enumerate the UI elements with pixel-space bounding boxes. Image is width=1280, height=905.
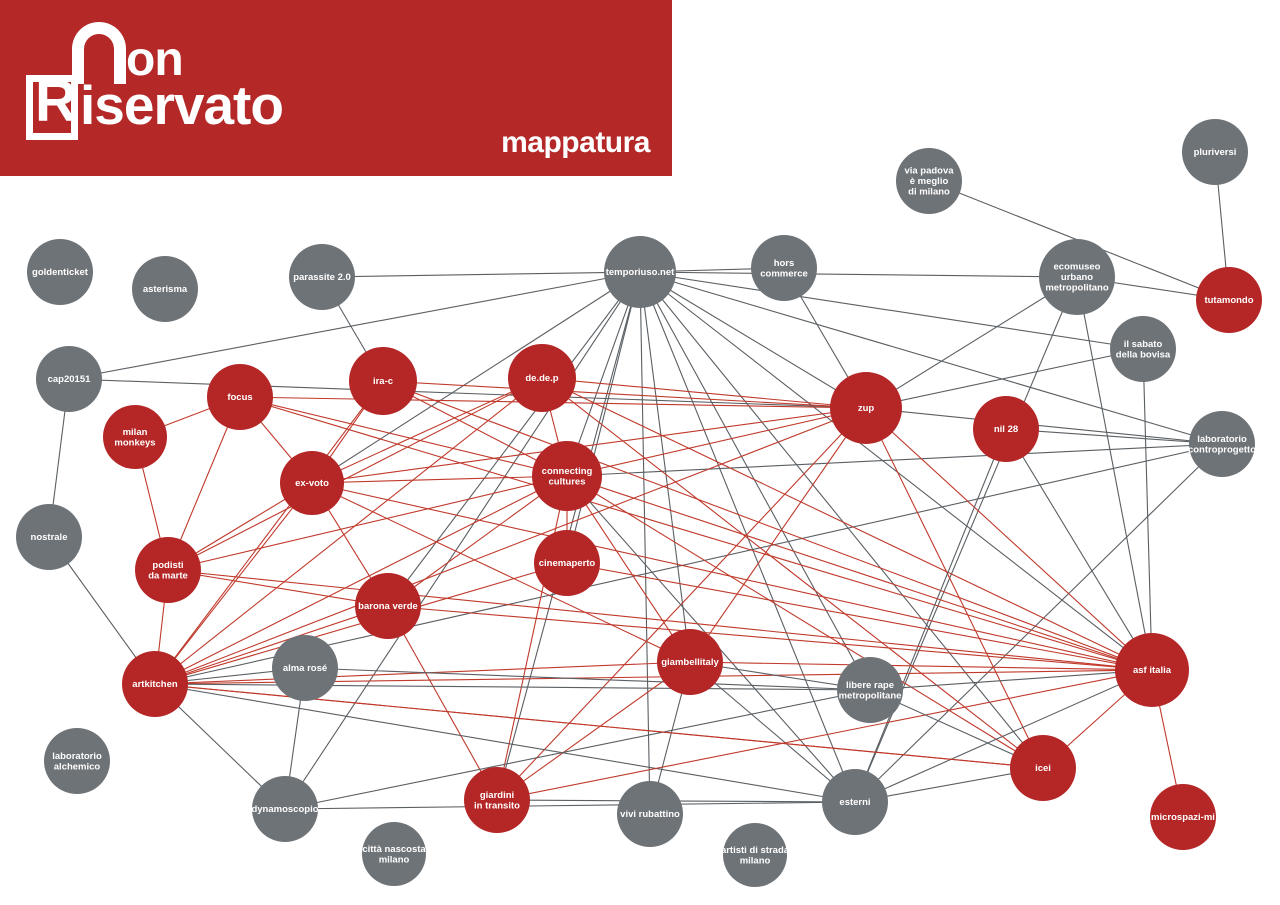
graph-edge <box>155 378 542 684</box>
graph-node-circle[interactable] <box>464 767 530 833</box>
graph-edge <box>168 570 388 606</box>
graph-node[interactable]: tutamondo <box>1196 267 1262 333</box>
graph-node[interactable]: esterni <box>822 769 888 835</box>
graph-node[interactable]: artisti di stradamilano <box>721 823 790 887</box>
graph-node-circle[interactable] <box>617 781 683 847</box>
graph-edge <box>567 476 1152 670</box>
graph-node-circle[interactable] <box>27 239 93 305</box>
graph-node-circle[interactable] <box>122 651 188 717</box>
graph-node[interactable]: laboratorioalchemico <box>44 728 110 794</box>
graph-node[interactable]: dynamoscopio <box>251 776 318 842</box>
graph-node-circle[interactable] <box>355 573 421 639</box>
graph-node-circle[interactable] <box>272 635 338 701</box>
graph-edge <box>497 662 690 800</box>
graph-node[interactable]: nil 28 <box>973 396 1039 462</box>
graph-node-circle[interactable] <box>973 396 1039 462</box>
graph-node[interactable]: goldenticket <box>27 239 93 305</box>
graph-node-circle[interactable] <box>132 256 198 322</box>
graph-node-circle[interactable] <box>289 244 355 310</box>
graph-node[interactable]: ira-c <box>349 347 417 415</box>
graph-node-circle[interactable] <box>1110 316 1176 382</box>
graph-edge <box>155 381 383 684</box>
graph-node-circle[interactable] <box>534 530 600 596</box>
graph-node-circle[interactable] <box>207 364 273 430</box>
graph-edge <box>155 684 1043 768</box>
graph-node-circle[interactable] <box>830 372 902 444</box>
graph-node-circle[interactable] <box>1010 735 1076 801</box>
graph-node[interactable]: zup <box>830 372 902 444</box>
graph-edge <box>168 476 567 570</box>
graph-node-circle[interactable] <box>604 236 676 308</box>
graph-edge <box>640 272 1077 277</box>
graph-node[interactable]: artkitchen <box>122 651 188 717</box>
graph-node[interactable]: cap20151 <box>36 346 102 412</box>
graph-edge <box>1143 349 1152 670</box>
graph-node-circle[interactable] <box>532 441 602 511</box>
graph-node[interactable]: via padovaè megliodi milano <box>896 148 962 214</box>
graph-node-circle[interactable] <box>723 823 787 887</box>
graph-edge <box>285 802 855 809</box>
network-graph: goldenticketasterismaparassite 2.0tempor… <box>0 0 1280 905</box>
graph-node-circle[interactable] <box>896 148 962 214</box>
graph-edge <box>155 606 388 684</box>
graph-node[interactable]: giambellitaly <box>657 629 723 695</box>
graph-node-circle[interactable] <box>280 451 344 515</box>
graph-node-circle[interactable] <box>657 629 723 695</box>
graph-node[interactable]: focus <box>207 364 273 430</box>
graph-edge <box>640 272 650 814</box>
graph-node[interactable]: microspazi-mi <box>1150 784 1216 850</box>
graph-edge <box>567 444 1222 476</box>
graph-node[interactable]: connectingcultures <box>532 441 602 511</box>
graph-node[interactable]: milanmonkeys <box>103 405 167 469</box>
graph-edge <box>155 408 866 684</box>
graph-node-circle[interactable] <box>1196 267 1262 333</box>
graph-node[interactable]: libere rapemetropolitane <box>837 657 903 723</box>
graph-node[interactable]: vivi rubattino <box>617 781 683 847</box>
graph-node[interactable]: nostrale <box>16 504 82 570</box>
graph-node[interactable]: alma rosé <box>272 635 338 701</box>
graph-node[interactable]: città nascostamilano <box>362 822 426 886</box>
graph-node-circle[interactable] <box>362 822 426 886</box>
graph-node[interactable]: icei <box>1010 735 1076 801</box>
graph-node-circle[interactable] <box>349 347 417 415</box>
graph-node[interactable]: il sabatodella bovisa <box>1110 316 1176 382</box>
graph-node-circle[interactable] <box>135 537 201 603</box>
graph-node[interactable]: pluriversi <box>1182 119 1248 185</box>
graph-edge <box>855 429 1006 802</box>
graph-edge <box>155 476 567 684</box>
graph-node-circle[interactable] <box>1115 633 1189 707</box>
graph-edge <box>640 272 1152 670</box>
graph-node-circle[interactable] <box>751 235 817 301</box>
graph-edge <box>690 408 866 662</box>
graph-edge <box>640 272 866 408</box>
graph-node[interactable]: ex-voto <box>280 451 344 515</box>
graph-node-circle[interactable] <box>36 346 102 412</box>
graph-node[interactable]: asf italia <box>1115 633 1189 707</box>
graph-node-circle[interactable] <box>1189 411 1255 477</box>
graph-edge <box>855 277 1077 802</box>
graph-edge <box>312 483 1152 670</box>
graph-edge <box>567 563 1152 670</box>
graph-node[interactable]: barona verde <box>355 573 421 639</box>
mappatura-network-page: on R iservato mappatura goldenticketaste… <box>0 0 1280 905</box>
graph-node[interactable]: de.de.p <box>508 344 576 412</box>
graph-node-circle[interactable] <box>1182 119 1248 185</box>
graph-node[interactable]: asterisma <box>132 256 198 322</box>
graph-node-circle[interactable] <box>508 344 576 412</box>
graph-node[interactable]: giardiniin transito <box>464 767 530 833</box>
graph-node-circle[interactable] <box>822 769 888 835</box>
graph-node-circle[interactable] <box>16 504 82 570</box>
graph-node[interactable]: temporiuso.net <box>604 236 676 308</box>
graph-edge <box>322 272 640 277</box>
graph-edge <box>388 272 640 606</box>
graph-edge <box>640 272 855 802</box>
graph-node-circle[interactable] <box>1150 784 1216 850</box>
graph-node-circle[interactable] <box>837 657 903 723</box>
graph-edge <box>866 408 1222 444</box>
graph-node-circle[interactable] <box>1039 239 1115 315</box>
graph-node-circle[interactable] <box>44 728 110 794</box>
graph-node-circle[interactable] <box>103 405 167 469</box>
graph-edge <box>388 606 497 800</box>
graph-edge <box>285 690 870 809</box>
graph-node-circle[interactable] <box>252 776 318 842</box>
graph-node[interactable]: parassite 2.0 <box>289 244 355 310</box>
graph-node[interactable]: horscommerce <box>751 235 817 301</box>
graph-edge <box>155 684 870 690</box>
graph-node[interactable]: ecomuseourbanometropolitano <box>1039 239 1115 315</box>
graph-edge <box>305 668 870 690</box>
graph-node[interactable]: cinemaperto <box>534 530 600 596</box>
graph-node[interactable]: podistida marte <box>135 537 201 603</box>
